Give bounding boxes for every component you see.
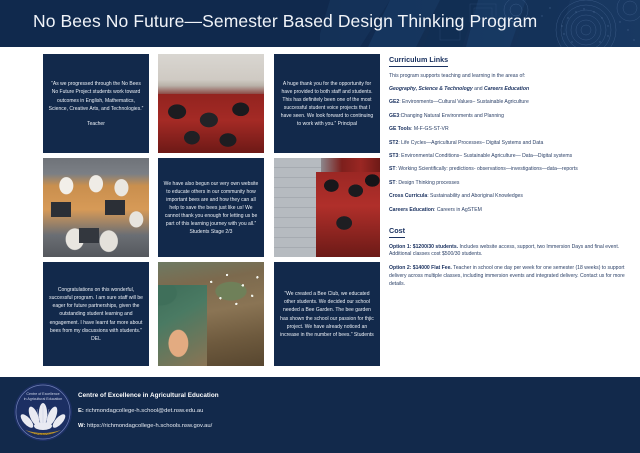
centre-of-excellence-crest-logo-icon: Centre of Excellence in Agricultural Edu… [13, 381, 73, 443]
footer-email-label: E: [78, 408, 84, 414]
curriculum-detail: : M-F-GS-ST-VR [411, 126, 449, 132]
information-rail: Curriculum Links This program supports t… [389, 56, 629, 368]
photo-students-table-laptops [43, 158, 149, 257]
curriculum-code: GE2 [389, 99, 399, 105]
quote-card-bee-club-students: “We created a Bee Club, we educated othe… [274, 262, 380, 366]
quote-card-students-stage23: We have also begun our very own website … [158, 158, 264, 257]
quote-card-del: Congratulations on this wonderful, succe… [43, 262, 149, 366]
quote-text: Congratulations on this wonderful, succe… [48, 286, 144, 343]
curriculum-link-careers-education: Careers Education: Careers in AgSTEM [389, 207, 629, 215]
curriculum-detail: : Life Cycles—Agricultural Processes– Di… [398, 140, 543, 146]
quote-card-teacher: “As we progressed through the No Bees No… [43, 54, 149, 153]
poster-page: No Bees No Future—Semester Based Design … [0, 0, 640, 453]
curriculum-link-st2: ST2: Life Cycles—Agricultural Processes–… [389, 140, 629, 148]
logo-ribbon-text: RICHMOND [32, 432, 54, 436]
quote-text: “We created a Bee Club, we educated othe… [279, 290, 375, 339]
footer-contact-block: Centre of Excellence in Agricultural Edu… [78, 392, 219, 438]
curriculum-link-ge3: GE3:Changing Natural Environments and Pl… [389, 113, 629, 121]
curriculum-link-cross-curricula: Cross Curricula: Sustainability and Abor… [389, 193, 629, 201]
curriculum-detail: : Environments—Cultural Values– Sustaina… [399, 99, 529, 105]
cost-option-lead: Option 1: $1200/30 students. [389, 244, 458, 250]
curriculum-code: ST2 [389, 140, 398, 146]
footer-web-label: W: [78, 423, 85, 429]
curriculum-intro: This program supports teaching and learn… [389, 73, 629, 81]
logo-caption-bottom: in Agricultural Education [24, 397, 63, 401]
photo-classroom-demonstration [158, 54, 264, 153]
cost-option-2: Option 2: $14000 Flat Fee. Teacher in sc… [389, 265, 629, 289]
cost-option-1: Option 1: $1200/30 students. Includes we… [389, 244, 629, 260]
curriculum-links-heading: Curriculum Links [389, 56, 448, 67]
curriculum-detail: : Careers in AgSTEM [434, 207, 482, 213]
quote-card-principal: A huge thank you for the opportunity for… [274, 54, 380, 153]
curriculum-subjects: Geography, Science & Technology and Care… [389, 86, 629, 94]
logo-caption-top: Centre of Excellence [26, 392, 59, 396]
subject-group-2: Careers Education [484, 86, 529, 92]
page-title: No Bees No Future—Semester Based Design … [33, 11, 537, 32]
curriculum-code: Cross Curricula [389, 193, 427, 199]
photo-bee-garden-flowers [158, 262, 264, 366]
curriculum-code: GE3 [389, 113, 399, 119]
curriculum-link-st-design-thinking: ST: Design Thinking processes [389, 180, 629, 188]
curriculum-detail: : Working Scientifically: predictions- o… [396, 166, 578, 172]
curriculum-detail: : Design Thinking processes [396, 180, 460, 186]
quote-text: A huge thank you for the opportunity for… [279, 80, 375, 129]
curriculum-link-ge-tools: GE Tools: M-F-GS-ST-VR [389, 126, 629, 134]
curriculum-code: Careers Education [389, 207, 434, 213]
footer-web-value[interactable]: https://richmondagcollege-h.schools.nsw.… [87, 423, 212, 429]
cost-option-lead: Option 2: $14000 Flat Fee. [389, 265, 452, 271]
photo-students-outdoor-wall [274, 158, 380, 257]
poster-body: “As we progressed through the No Bees No… [0, 47, 640, 377]
subject-group-1: Geography, Science & Technology [389, 86, 473, 92]
footer-email-line: E: richmondagcollege-h.school@det.nsw.ed… [78, 408, 219, 414]
curriculum-code: ST3 [389, 153, 398, 159]
cost-heading: Cost [389, 227, 405, 238]
curriculum-link-st3: ST3: Environmental Conditions– Sustainab… [389, 153, 629, 161]
quote-attribution: Teacher [87, 120, 105, 128]
quote-photo-grid: “As we progressed through the No Bees No… [43, 54, 380, 372]
quote-text: “As we progressed through the No Bees No… [48, 80, 144, 112]
curriculum-detail: : Sustainability and Aboriginal Knowledg… [427, 193, 523, 199]
footer-email-value[interactable]: richmondagcollege-h.school@det.nsw.edu.a… [85, 408, 203, 414]
curriculum-link-ge2: GE2: Environments—Cultural Values– Susta… [389, 99, 629, 107]
curriculum-detail: : Environmental Conditions– Sustainable … [398, 153, 572, 159]
curriculum-code: GE Tools [389, 126, 411, 132]
footer-organisation: Centre of Excellence in Agricultural Edu… [78, 392, 219, 399]
page-header: No Bees No Future—Semester Based Design … [0, 0, 640, 47]
subject-conjunction: and [473, 86, 484, 92]
curriculum-detail: :Changing Natural Environments and Plann… [399, 113, 504, 119]
quote-text: We have also begun our very own website … [163, 180, 259, 237]
curriculum-link-st-working-scientifically: ST: Working Scientifically: predictions-… [389, 166, 629, 174]
footer-web-line: W: https://richmondagcollege-h.schools.n… [78, 423, 219, 429]
